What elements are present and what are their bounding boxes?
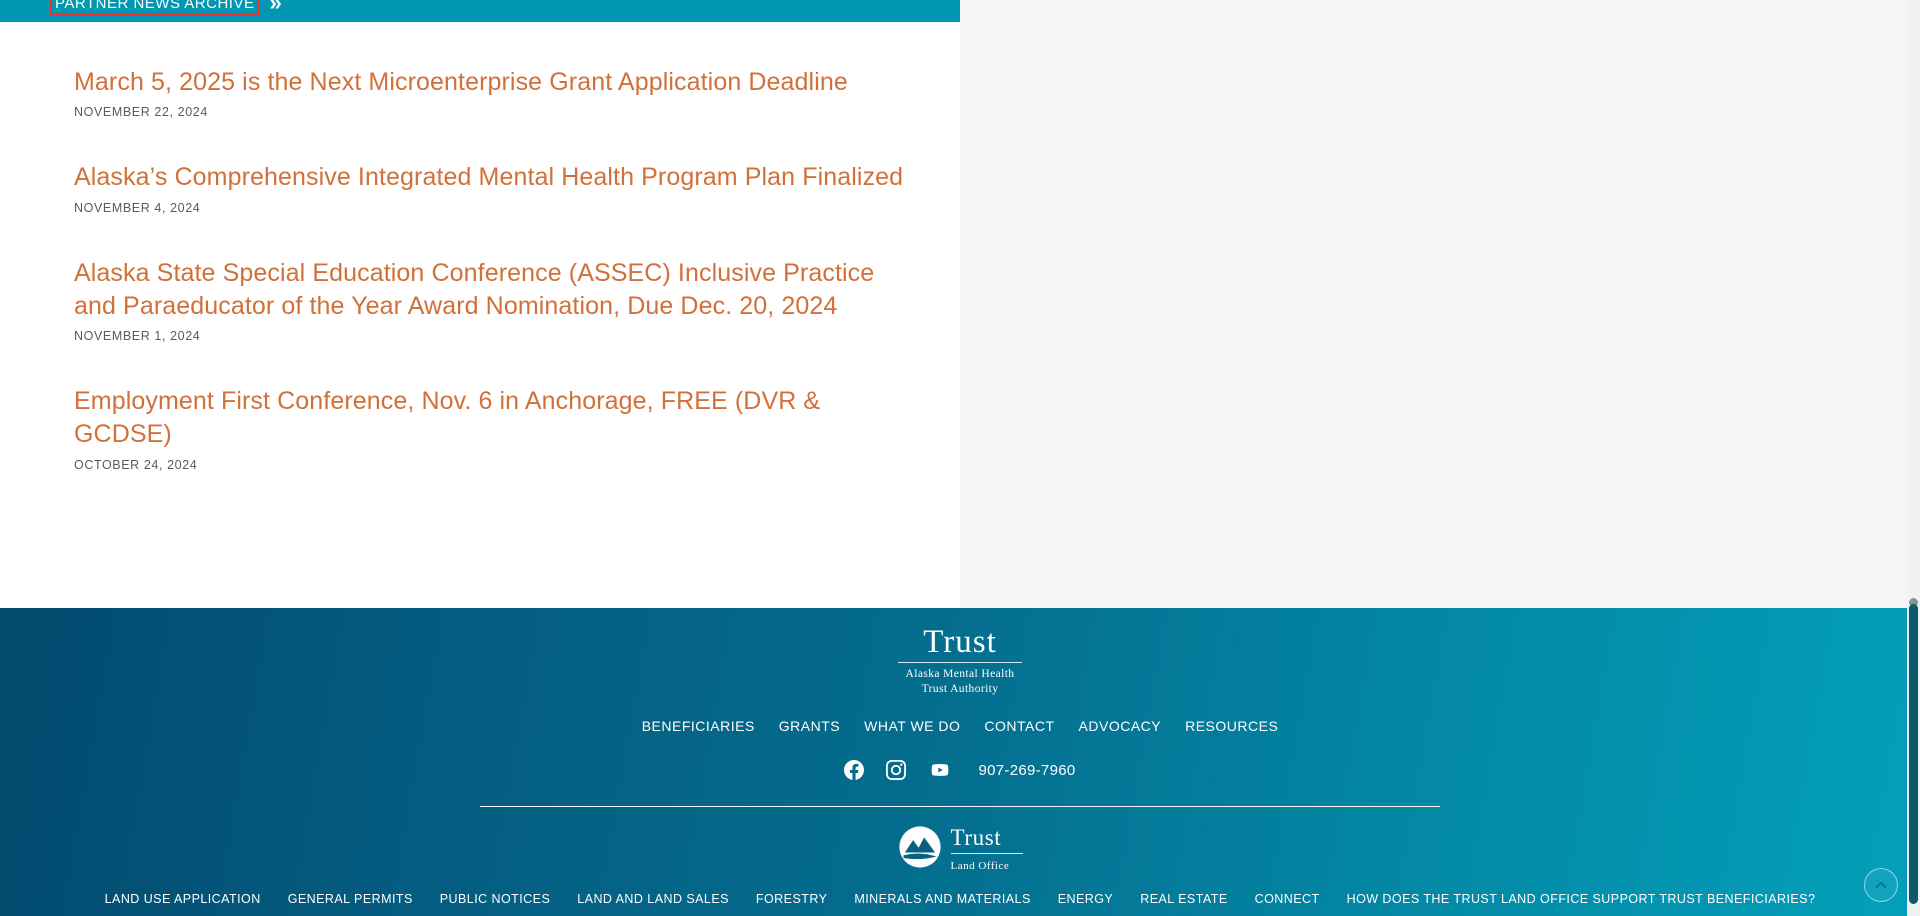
mountain-circle-icon <box>898 825 942 874</box>
footer-nav-advocacy[interactable]: ADVOCACY <box>1079 718 1162 734</box>
bottom-nav-land-and-land-sales[interactable]: LAND AND LAND SALES <box>577 892 729 906</box>
footer-nav: BENEFICIARIES GRANTS WHAT WE DO CONTACT … <box>0 718 1920 734</box>
footer-nav-beneficiaries[interactable]: BENEFICIARIES <box>642 718 755 734</box>
facebook-icon[interactable] <box>844 760 864 780</box>
trust-land-office-logo[interactable]: Trust Land Office <box>0 825 1920 874</box>
trust-logo-subline-2: Trust Authority <box>850 682 1070 697</box>
bottom-nav-energy[interactable]: ENERGY <box>1058 892 1114 906</box>
site-footer: Trust Alaska Mental Health Trust Authori… <box>0 608 1920 916</box>
footer-nav-grants[interactable]: GRANTS <box>779 718 840 734</box>
back-to-top-button[interactable] <box>1864 868 1898 902</box>
bottom-nav-minerals-and-materials[interactable]: MINERALS AND MATERIALS <box>854 892 1030 906</box>
page-root: PARTNER NEWS ARCHIVE » March 5, 2025 is … <box>0 0 1920 916</box>
scrollbar-thumb[interactable] <box>1909 604 1918 904</box>
trust-authority-logo[interactable]: Trust Alaska Mental Health Trust Authori… <box>850 608 1070 696</box>
trust-logo-rule <box>898 662 1022 663</box>
footer-nav-resources[interactable]: RESOURCES <box>1185 718 1278 734</box>
scrollbar-track[interactable] <box>1907 0 1920 916</box>
bottom-nav: LAND USE APPLICATION GENERAL PERMITS PUB… <box>0 892 1920 916</box>
trust-logo-subline-1: Alaska Mental Health <box>850 667 1070 682</box>
bottom-nav-forestry[interactable]: FORESTRY <box>756 892 827 906</box>
content-fade-overlay <box>0 0 960 608</box>
instagram-icon[interactable] <box>886 760 906 780</box>
tlo-logo-sub: Land Office <box>951 860 1010 872</box>
bottom-nav-land-use-application[interactable]: LAND USE APPLICATION <box>105 892 261 906</box>
tlo-logo-rule <box>951 853 1023 854</box>
bottom-nav-general-permits[interactable]: GENERAL PERMITS <box>288 892 413 906</box>
youtube-icon[interactable] <box>928 760 952 780</box>
bottom-nav-support-beneficiaries[interactable]: HOW DOES THE TRUST LAND OFFICE SUPPORT T… <box>1347 892 1816 906</box>
chevron-up-icon <box>1872 876 1890 894</box>
social-row: 907-269-7960 <box>0 760 1920 780</box>
footer-divider <box>480 806 1440 807</box>
footer-nav-contact[interactable]: CONTACT <box>984 718 1054 734</box>
tlo-logo-word: Trust <box>951 825 1002 850</box>
right-gutter <box>960 0 1920 608</box>
footer-nav-what-we-do[interactable]: WHAT WE DO <box>864 718 960 734</box>
bottom-nav-real-estate[interactable]: REAL ESTATE <box>1140 892 1227 906</box>
bottom-nav-public-notices[interactable]: PUBLIC NOTICES <box>440 892 551 906</box>
phone-number-link[interactable]: 907-269-7960 <box>978 762 1075 779</box>
trust-logo-word: Trust <box>850 626 1070 659</box>
trust-land-office-wordmark: Trust Land Office <box>951 826 1023 873</box>
bottom-nav-connect[interactable]: CONNECT <box>1255 892 1320 906</box>
